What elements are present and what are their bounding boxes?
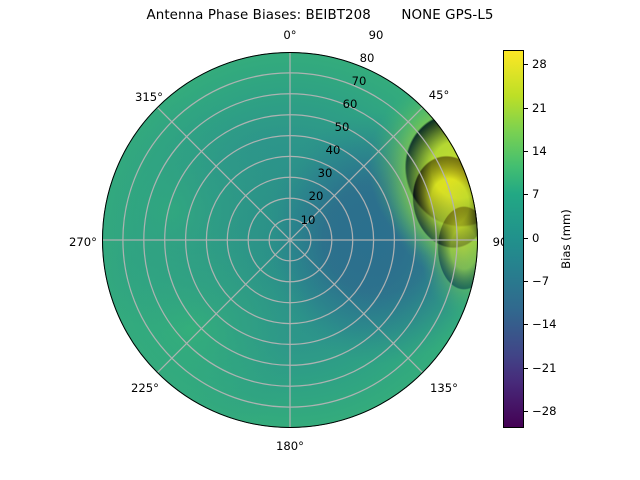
r-tick-40: 40 <box>326 143 341 157</box>
page-title: Antenna Phase Biases: BEIBT208 NONE GPS-… <box>0 8 640 23</box>
colorbar-tick-7 <box>524 194 528 195</box>
r-tick-90: 90 <box>369 28 384 42</box>
r-tick-30: 30 <box>318 166 333 180</box>
theta-tick-315: 315° <box>135 90 163 104</box>
polar-data-surface <box>102 52 478 428</box>
colorbar-tick-28 <box>524 64 528 65</box>
colorbar-label-m21: −21 <box>532 361 556 375</box>
colorbar-tick-21 <box>524 108 528 109</box>
r-tick-70: 70 <box>352 74 367 88</box>
colorbar-tick-0 <box>524 238 528 239</box>
polar-gridlines <box>102 52 478 428</box>
colorbar-axis-label: Bias (mm) <box>559 209 573 269</box>
r-tick-60: 60 <box>343 97 358 111</box>
r-tick-20: 20 <box>309 189 324 203</box>
colorbar-tick-m28 <box>524 411 528 412</box>
figure-canvas: Antenna Phase Biases: BEIBT208 NONE GPS-… <box>0 0 640 480</box>
colorbar-label-m14: −14 <box>532 317 556 331</box>
theta-tick-180: 180° <box>276 439 304 453</box>
colorbar-label-7: 7 <box>532 187 539 201</box>
colorbar-label-14: 14 <box>532 144 547 158</box>
r-tick-80: 80 <box>360 51 375 65</box>
colorbar-label-m28: −28 <box>532 404 556 418</box>
r-tick-10: 10 <box>301 213 316 227</box>
colorbar-gradient <box>503 50 524 428</box>
r-tick-50: 50 <box>335 120 350 134</box>
polar-axes[interactable]: 10 20 30 40 50 60 70 80 90 0° 45° 90 135… <box>102 52 478 428</box>
theta-tick-270: 270° <box>69 235 97 249</box>
theta-tick-135: 135° <box>430 381 458 395</box>
theta-tick-45: 45° <box>429 88 450 102</box>
colorbar-tick-m21 <box>524 368 528 369</box>
colorbar-label-21: 21 <box>532 101 547 115</box>
colorbar-tick-m14 <box>524 324 528 325</box>
theta-tick-0: 0° <box>283 28 296 42</box>
colorbar-tick-14 <box>524 151 528 152</box>
colorbar-label-0: 0 <box>532 231 539 245</box>
theta-tick-225: 225° <box>131 381 159 395</box>
colorbar[interactable]: 28 21 14 7 0 −7 −14 −21 −28 <box>503 50 524 428</box>
colorbar-label-m7: −7 <box>532 274 549 288</box>
colorbar-tick-m7 <box>524 281 528 282</box>
colorbar-label-28: 28 <box>532 57 547 71</box>
